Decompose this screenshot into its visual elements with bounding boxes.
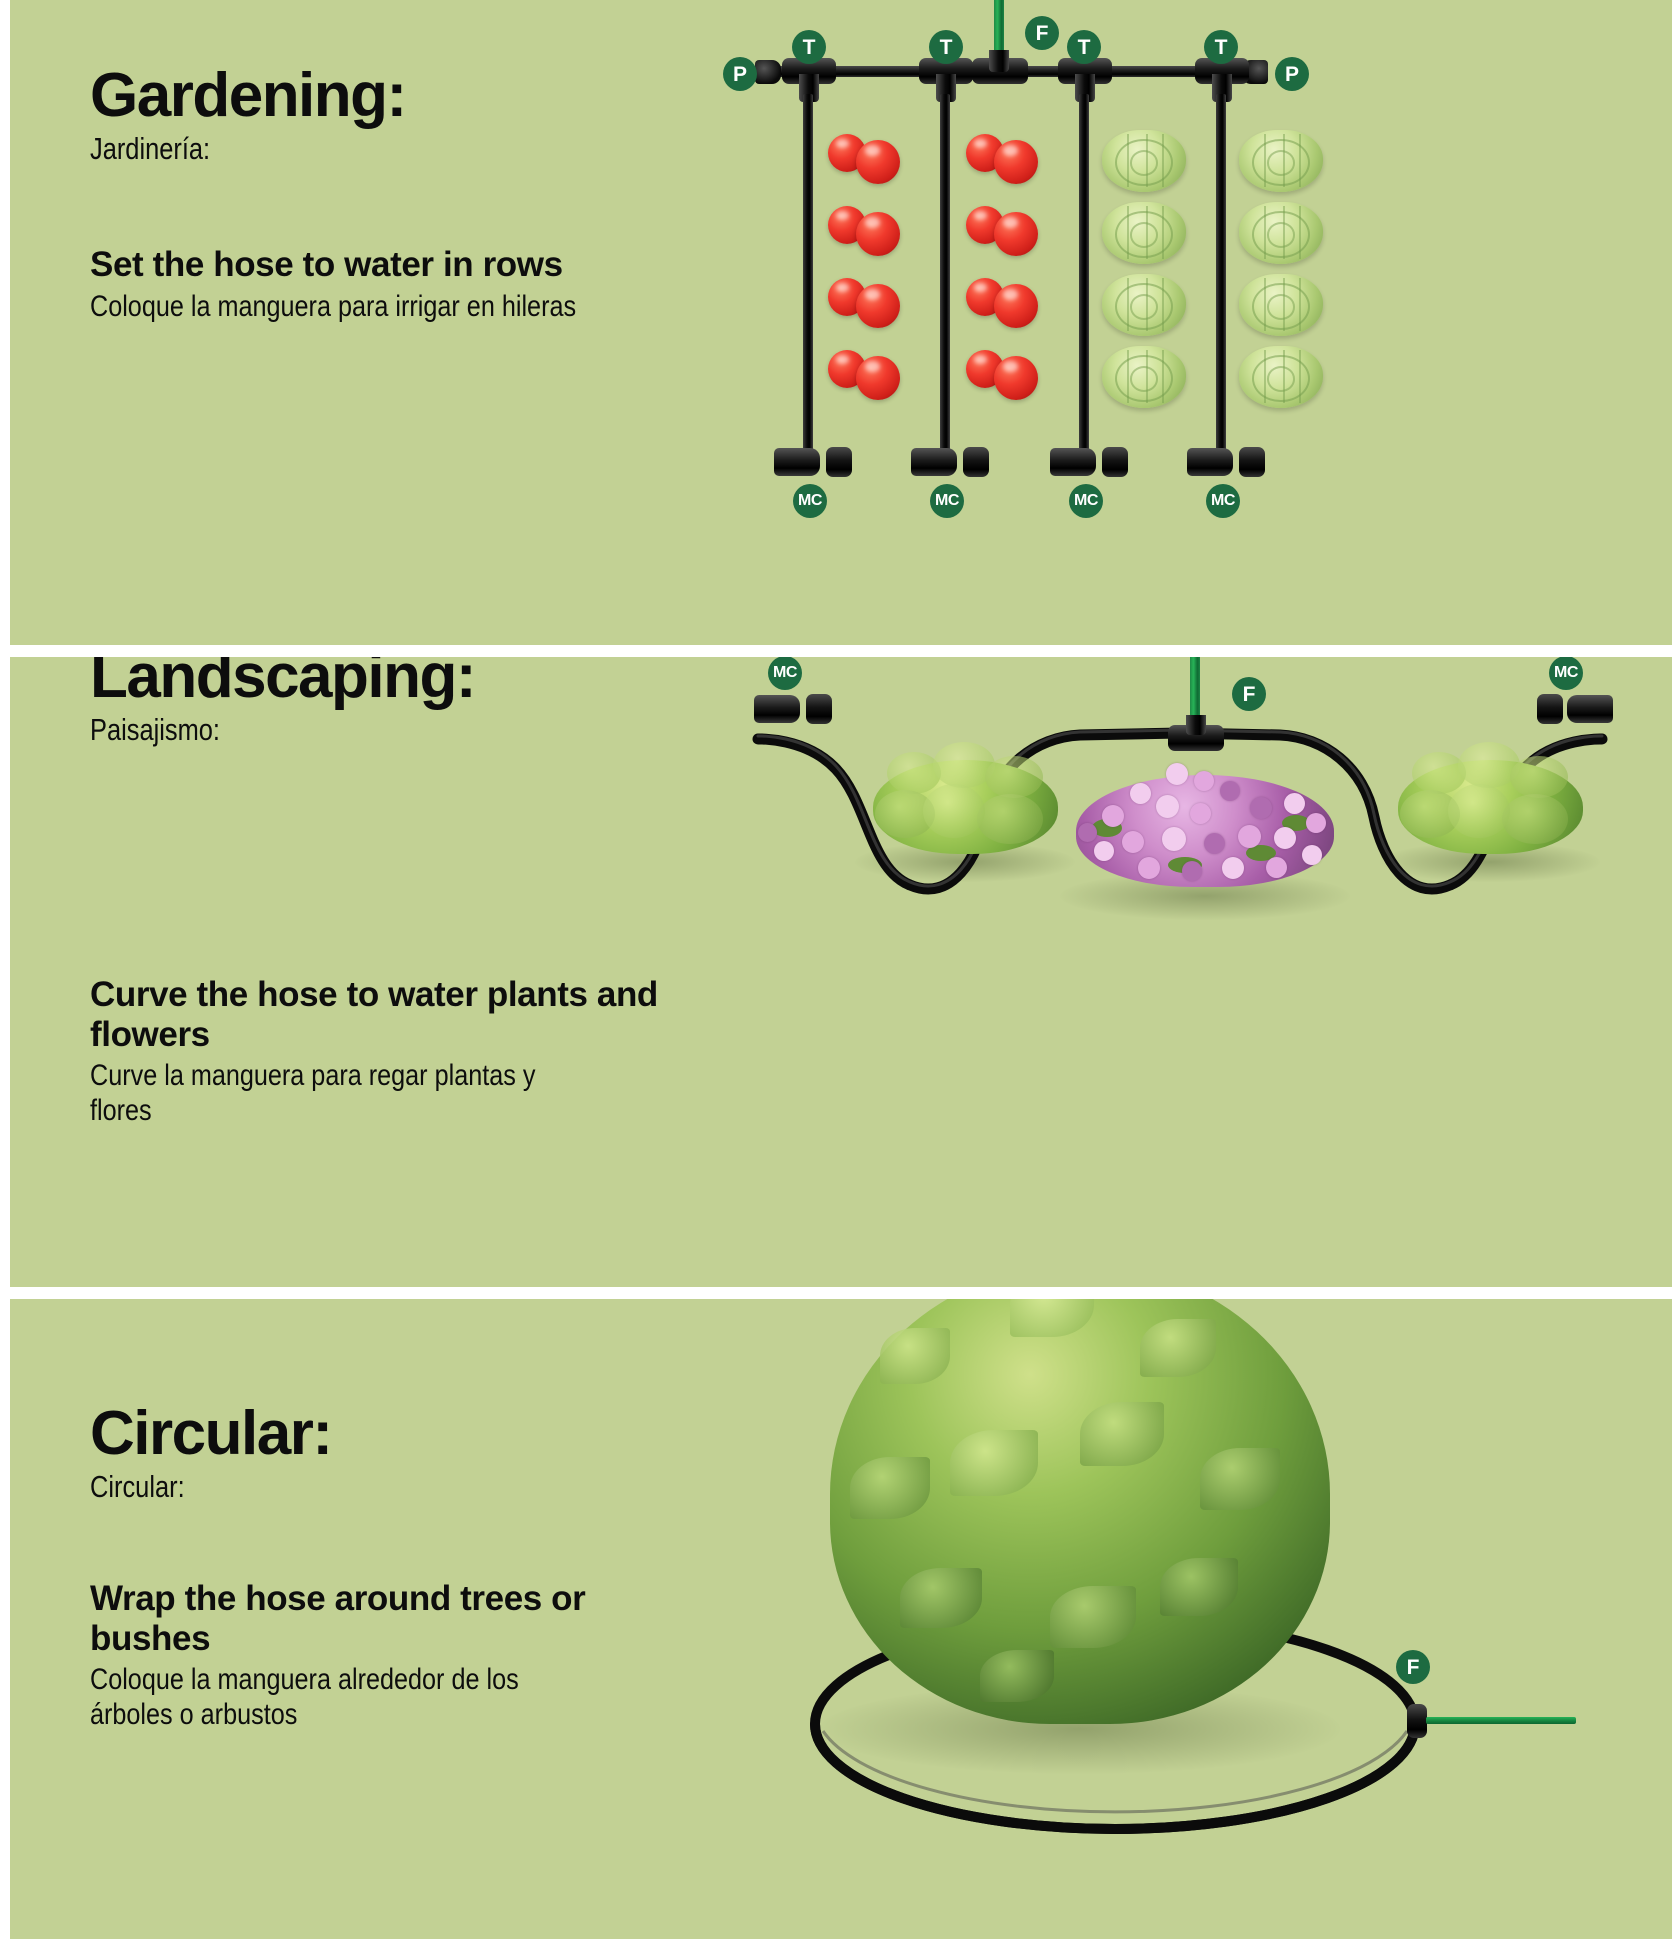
- tomato-pair: [828, 350, 900, 398]
- circular-instruction-en: Wrap the hose around trees or bushes: [90, 1579, 650, 1658]
- cabbage: [1239, 202, 1323, 264]
- badge-f-feed: F: [1232, 677, 1266, 711]
- plug-left: [755, 60, 781, 84]
- tomato: [856, 140, 900, 184]
- cabbage: [1102, 274, 1186, 336]
- badge-mc-left: MC: [768, 657, 802, 690]
- gardening-text-block: Gardening: Jardinería:: [90, 66, 406, 165]
- tomato: [994, 284, 1038, 328]
- badge-t-row-1: T: [792, 30, 826, 64]
- cabbage: [1102, 346, 1186, 408]
- tomato: [856, 212, 900, 256]
- connector-nut-left: [806, 694, 832, 724]
- gardening-instruction-block: Set the hose to water in rows Coloque la…: [90, 245, 850, 324]
- tomato: [994, 356, 1038, 400]
- gardening-title-es: Jardinería:: [90, 133, 349, 166]
- tomato-pair: [828, 278, 900, 326]
- cabbage: [1102, 130, 1186, 192]
- tee-stub-feed: [989, 50, 1009, 72]
- tee-stub-feed: [1186, 715, 1206, 735]
- badge-f-feed: F: [1396, 1650, 1430, 1684]
- panel-circular: Circular: Circular: Wrap the hose around…: [10, 1299, 1672, 1939]
- badge-t-row-2: T: [929, 30, 963, 64]
- gardening-instruction-es: Coloque la manguera para irrigar en hile…: [90, 290, 728, 325]
- connector-nut-row-3: [1102, 447, 1128, 477]
- shrub-right: [1390, 742, 1590, 862]
- tomato-pair: [966, 278, 1038, 326]
- badge-mc-row-2: MC: [930, 484, 964, 518]
- connector-nut-right: [1537, 694, 1563, 724]
- connector-left: [754, 695, 800, 723]
- cabbage: [1239, 274, 1323, 336]
- gardening-title-en: Gardening:: [90, 66, 406, 127]
- circular-title-es: Circular:: [90, 1471, 288, 1504]
- connector-row-1: [774, 448, 820, 476]
- tomato: [994, 140, 1038, 184]
- circular-title-en: Circular:: [90, 1404, 331, 1465]
- tomato-pair: [828, 134, 900, 182]
- badge-f-feed: F: [1025, 16, 1059, 50]
- badge-mc-row-4: MC: [1206, 484, 1240, 518]
- riser-row-2: [940, 94, 950, 456]
- cabbage: [1102, 202, 1186, 264]
- circular-text-block: Circular: Circular:: [90, 1404, 331, 1503]
- badge-mc-row-3: MC: [1069, 484, 1103, 518]
- connector-nut-feed: [1407, 1704, 1427, 1738]
- tomato: [856, 284, 900, 328]
- connector-right: [1567, 695, 1613, 723]
- badge-t-row-4: T: [1204, 30, 1238, 64]
- badge-p-left: P: [723, 57, 757, 91]
- tomato-pair: [828, 206, 900, 254]
- riser-row-4: [1216, 94, 1226, 456]
- riser-row-1: [803, 94, 813, 456]
- badge-mc-row-1: MC: [793, 484, 827, 518]
- connector-row-4: [1187, 448, 1233, 476]
- feed-hose-horizontal: [1426, 1717, 1576, 1724]
- flower-bed: [1070, 757, 1340, 892]
- connector-nut-row-1: [826, 447, 852, 477]
- riser-row-3: [1079, 94, 1089, 456]
- cabbage: [1239, 346, 1323, 408]
- tomato: [994, 212, 1038, 256]
- badge-mc-right: MC: [1549, 657, 1583, 690]
- shrub-left: [865, 742, 1065, 862]
- panel-gardening: Gardening: Jardinería: Set the hose to w…: [10, 0, 1672, 645]
- connector-nut-row-4: [1239, 447, 1265, 477]
- tomato-pair: [966, 350, 1038, 398]
- circular-instruction-es: Coloque la manguera alrededor de los árb…: [90, 1663, 560, 1733]
- gardening-instruction-en: Set the hose to water in rows: [90, 245, 850, 285]
- connector-nut-row-2: [963, 447, 989, 477]
- badge-t-row-3: T: [1067, 30, 1101, 64]
- badge-p-right: P: [1275, 57, 1309, 91]
- landscaping-diagram: MC F MC: [10, 657, 1672, 1287]
- panel-landscaping: Landscaping: Paisajismo: Curve the hose …: [10, 657, 1672, 1287]
- tomato-pair: [966, 134, 1038, 182]
- tomato: [856, 356, 900, 400]
- connector-row-2: [911, 448, 957, 476]
- connector-row-3: [1050, 448, 1096, 476]
- hose-ring-front: [805, 1609, 1425, 1839]
- tomato-pair: [966, 206, 1038, 254]
- instruction-poster: Gardening: Jardinería: Set the hose to w…: [0, 0, 1672, 1939]
- circular-instruction-block: Wrap the hose around trees or bushes Col…: [90, 1579, 650, 1733]
- cabbage: [1239, 130, 1323, 192]
